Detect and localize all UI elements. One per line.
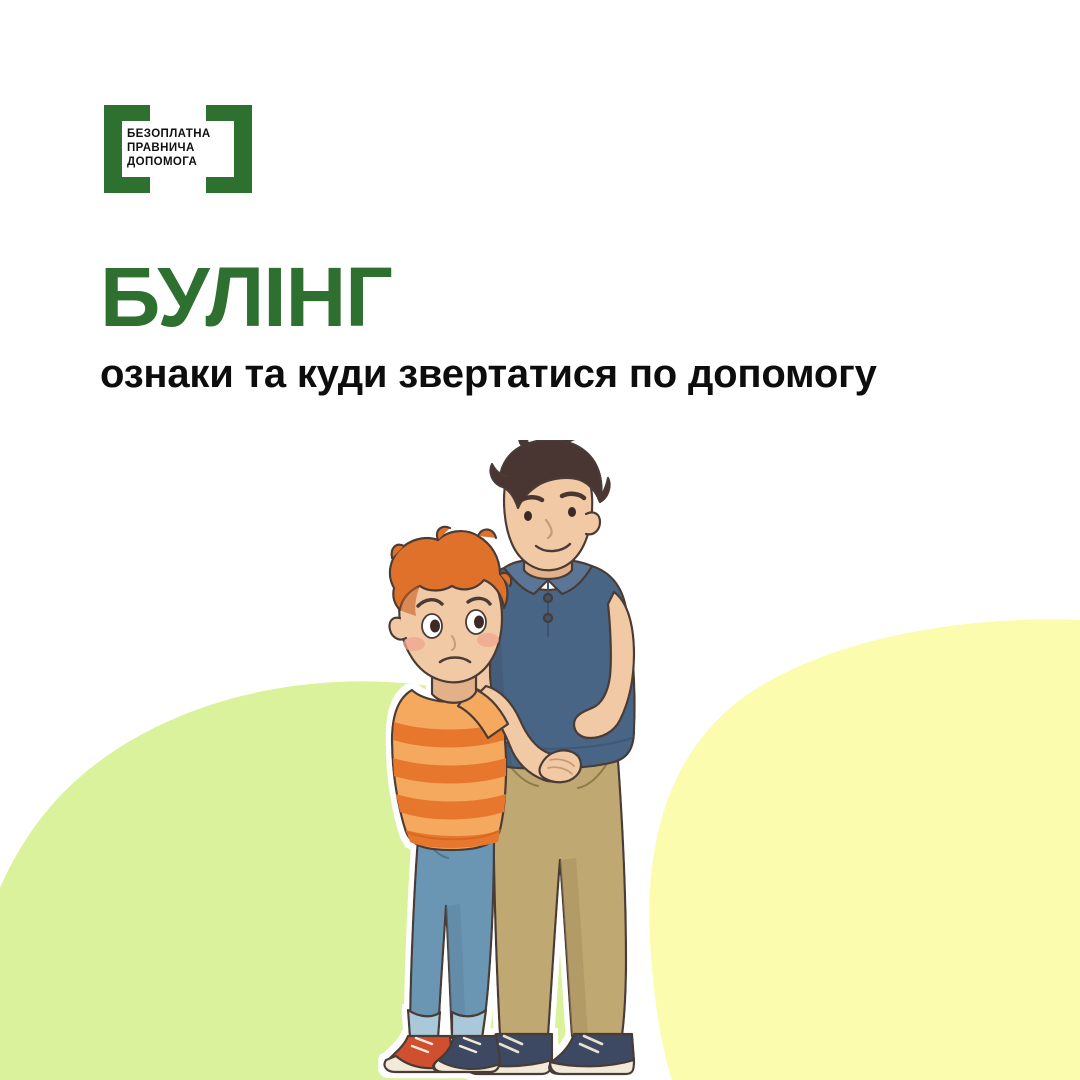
logo-line-1: БЕЗОПЛАТНА [127, 127, 235, 141]
illustration-father-and-boy [376, 440, 706, 1080]
logo-line-3: ДОПОМОГА [127, 155, 235, 169]
man-eye-left [524, 511, 532, 521]
man-ear [586, 512, 600, 534]
page-subtitle: ознаки та куди звертатися по допомогу [100, 351, 877, 397]
boy-blush-left [403, 637, 425, 651]
poster-canvas: БЕЗОПЛАТНА ПРАВНИЧА ДОПОМОГА БУЛІНГ озна… [0, 0, 1080, 1080]
yellow-blob [649, 619, 1080, 1080]
boy-pupil-left [430, 620, 440, 633]
page-title: БУЛІНГ [100, 255, 392, 339]
brand-logo[interactable]: БЕЗОПЛАТНА ПРАВНИЧА ДОПОМОГА [104, 105, 252, 193]
boy-blush-right [477, 633, 499, 647]
logo-line-2: ПРАВНИЧА [127, 141, 235, 155]
man-eye-right [568, 507, 576, 517]
man-polo-button-1 [544, 594, 552, 602]
boy-pupil-right [474, 616, 484, 629]
logo-wordmark: БЕЗОПЛАТНА ПРАВНИЧА ДОПОМОГА [127, 127, 235, 169]
man-polo-button-2 [544, 614, 552, 622]
